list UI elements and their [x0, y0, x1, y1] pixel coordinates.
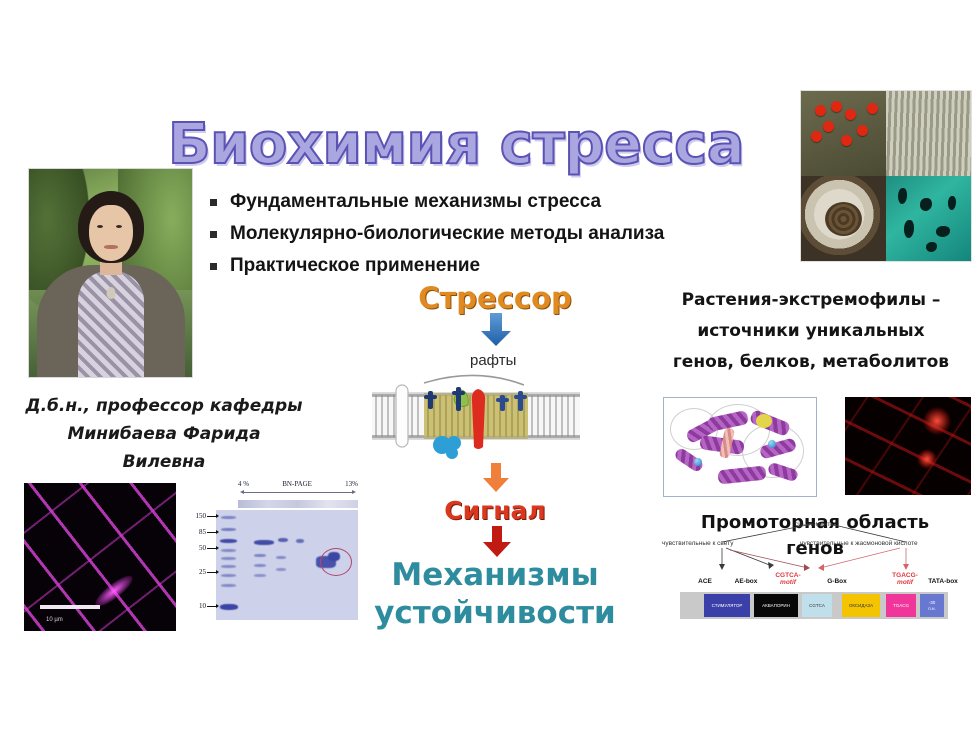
arrow-down-stressor-icon	[480, 313, 512, 347]
mw-label: 85	[186, 528, 206, 536]
cell-network	[845, 397, 971, 495]
mechanisms-line-2: устойчивости	[350, 594, 640, 632]
arrow-down-signal-icon	[482, 463, 510, 493]
bullet-square-icon	[210, 263, 217, 270]
mw-label: 10	[186, 602, 206, 610]
extremophile-line-2: источники уникальных	[650, 316, 972, 347]
gel-electrophoresis-image: 4 % BN-PAGE 13%	[186, 480, 361, 635]
face	[89, 205, 133, 261]
bullet-list: Фундаментальные механизмы стресса Молеку…	[208, 186, 808, 282]
extremophile-line-3: генов, белков, метаболитов	[650, 347, 972, 378]
promoter-element-label-g-box: G-Box	[818, 578, 856, 585]
promoter-box-ae-box: АКВАПОРИН	[754, 594, 798, 617]
promoter-bar: СТИМУЛЯТОР АКВАПОРИН CGTCA ОКСИДАЗА TGAC…	[680, 592, 948, 619]
ladder-lane	[220, 512, 238, 618]
promoter-box-cgtca: CGTCA	[802, 594, 832, 617]
stressor-label: Стрессор	[400, 281, 590, 315]
list-item: Практическое применение	[208, 250, 808, 282]
bullet-square-icon	[210, 231, 217, 238]
author-name-block: Д.б.н., профессор кафедры Минибаева Фари…	[14, 392, 314, 476]
protein-structure-image	[663, 397, 817, 497]
list-item-label: Практическое применение	[230, 255, 480, 276]
page-title: Биохимия стресса	[168, 112, 768, 177]
author-patronymic-line: Вилевна	[14, 448, 314, 476]
gel-body	[216, 510, 358, 620]
author-title-line: Д.б.н., профессор кафедры	[14, 392, 314, 420]
promoter-element-label-ae-box: AE-box	[726, 578, 766, 585]
list-item: Молекулярно-биологические методы анализа	[208, 218, 808, 250]
signal-label: Сигнал	[420, 496, 570, 525]
mw-arrow-icon	[207, 532, 216, 533]
extremophile-heading: Растения-экстремофилы – источники уникал…	[650, 285, 972, 378]
promoter-box-g-box: ОКСИДАЗА	[842, 594, 880, 617]
collage-photo-leaf	[886, 176, 971, 261]
mechanisms-label: Механизмы устойчивости	[350, 556, 640, 632]
gradient-arrow-icon	[244, 492, 352, 493]
slide-canvas: Биохимия стресса Фундаментальные механиз…	[0, 0, 980, 735]
pendant	[106, 287, 115, 299]
collage-photo-lichen-strands	[886, 91, 971, 176]
mw-arrow-icon	[207, 572, 216, 573]
fluorescence-microscopy-image	[845, 397, 971, 495]
arrow-down-mechanisms-icon	[482, 526, 512, 558]
mw-label: 50	[186, 544, 206, 552]
author-portrait-photo	[28, 168, 193, 378]
confocal-microscopy-image: 10 µm	[24, 483, 176, 631]
scale-bar	[40, 605, 100, 609]
extremophile-plants-collage	[800, 90, 972, 262]
promoter-element-label-ace: ACE	[688, 578, 722, 585]
mw-arrow-icon	[207, 516, 216, 517]
promoter-element-label-cgtca-motif: CGTCA- motif	[768, 572, 808, 586]
promoter-box-tgacg: TGACG	[886, 594, 916, 617]
bright-spot	[923, 407, 951, 435]
rafts-label: рафты	[470, 352, 516, 369]
list-item-label: Фундаментальные механизмы стресса	[230, 191, 601, 212]
highlight-circle	[320, 548, 352, 576]
list-item-label: Молекулярно-биологические методы анализа	[230, 223, 664, 244]
gel-header: 4 % BN-PAGE 13%	[238, 480, 358, 488]
mw-arrow-icon	[207, 548, 216, 549]
eye-left	[97, 225, 103, 228]
gel-technique-label: BN-PAGE	[282, 480, 312, 488]
mw-arrow-icon	[207, 606, 216, 607]
promoter-box-ace: СТИМУЛЯТОР	[704, 594, 750, 617]
extremophile-line-1: Растения-экстремофилы –	[650, 285, 972, 316]
mw-label: 150	[186, 512, 206, 520]
bullet-square-icon	[210, 199, 217, 206]
gel-percent-right: 13%	[345, 480, 358, 488]
promoter-box-tata-box: -30 п.н.	[920, 594, 944, 617]
mechanisms-line-1: Механизмы	[350, 556, 640, 594]
mouth	[104, 245, 118, 249]
collage-photo-berries	[801, 91, 886, 176]
collage-photo-lichen-rosette	[801, 176, 886, 261]
gel-strip	[238, 500, 358, 508]
eye-right	[116, 225, 122, 228]
scale-bar-label: 10 µm	[46, 617, 63, 623]
promoter-element-label-tata-box: TATA-box	[920, 578, 966, 585]
bright-spot	[917, 449, 937, 469]
mw-label: 25	[186, 568, 206, 576]
gel-percent-left: 4 %	[238, 480, 249, 488]
author-surname-line: Минибаева Фарида	[14, 420, 314, 448]
membrane-diagram	[372, 373, 580, 471]
list-item: Фундаментальные механизмы стресса	[208, 186, 808, 218]
